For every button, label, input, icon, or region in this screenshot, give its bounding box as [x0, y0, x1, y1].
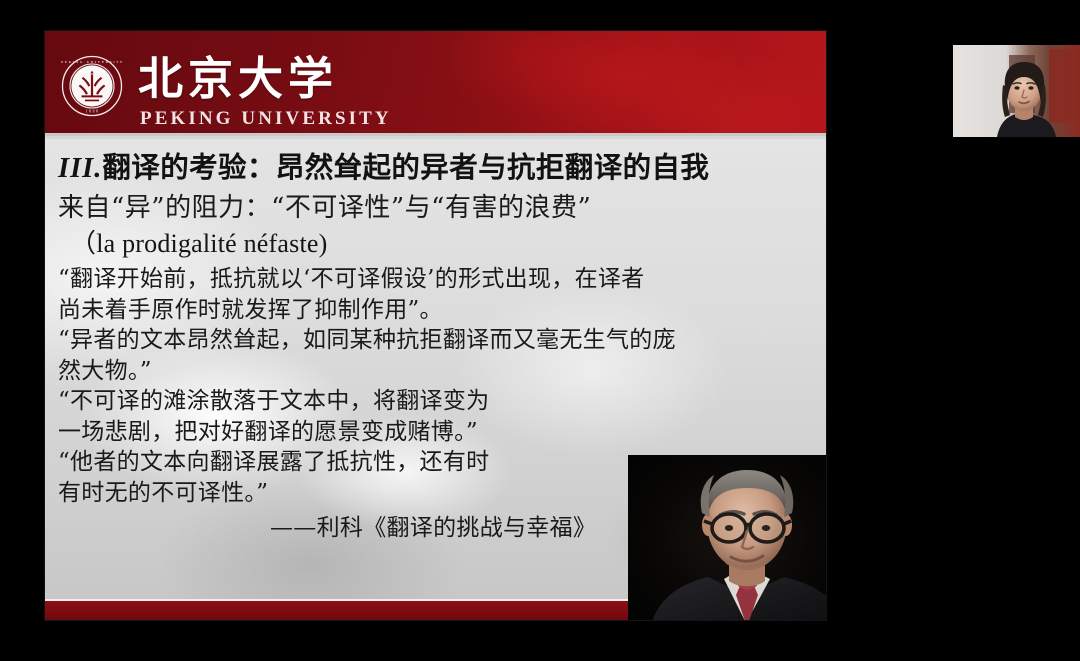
screen-share-stage: P E K I N G U N I V E R S I T Y 1 8 9 8 …	[0, 0, 1080, 661]
svg-text:1 8 9 8: 1 8 9 8	[86, 110, 99, 114]
presentation-slide: P E K I N G U N I V E R S I T Y 1 8 9 8 …	[45, 31, 826, 620]
quote-line: 然大物。”	[58, 356, 826, 387]
quote-line: 尚未着手原作时就发挥了抑制作用”。	[58, 295, 826, 326]
quote-line: “异者的文本昂然耸起，如同某种抗拒翻译而又毫无生气的庞	[58, 325, 826, 356]
institution-name-en: PEKING UNIVERSITY	[140, 109, 392, 128]
institution-name-cn: 北京大学	[138, 56, 338, 101]
webcam-figure	[953, 45, 1080, 137]
portrait-figure	[628, 455, 826, 620]
slide-subtitle-fr: （la prodigalité néfaste)	[70, 228, 826, 260]
peking-university-seal-icon: P E K I N G U N I V E R S I T Y 1 8 9 8	[61, 55, 123, 117]
slide-title: III.翻译的考验：昂然耸起的异者与抗拒翻译的自我	[58, 148, 782, 189]
portrait-photo	[628, 455, 826, 620]
webcam-thumbnail[interactable]	[938, 25, 1080, 151]
slide-subtitle-cn: 来自“异”的阻力：“不可译性”与“有害的浪费”	[58, 192, 826, 225]
quote-line: 一场悲剧，把对好翻译的愿景变成赌博。”	[58, 417, 826, 448]
slide-title-numeral: III.	[58, 153, 102, 184]
slide-title-text: 翻译的考验：昂然耸起的异者与抗拒翻译的自我	[102, 151, 709, 184]
slide-header-band: P E K I N G U N I V E R S I T Y 1 8 9 8 …	[45, 31, 826, 136]
svg-text:P E K I N G U N I V E R S I: P E K I N G U N I V E R S I T Y	[61, 60, 122, 64]
webcam-video-frame	[953, 45, 1080, 137]
quote-line: “不可译的滩涂散落于文本中，将翻译变为	[58, 386, 826, 417]
quote-line: “翻译开始前，抵抗就以‘不可译假设’的形式出现，在译者	[58, 264, 826, 295]
